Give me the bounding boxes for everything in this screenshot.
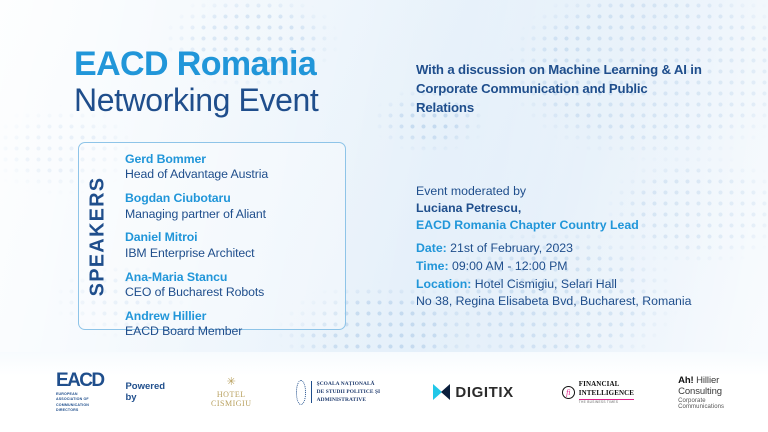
- hotel-crest-icon: ✳: [211, 377, 251, 388]
- powered-by-label: Powered by: [125, 381, 165, 403]
- sponsor-logo-bar: EACD EUROPEAN ASSOCIATION OF COMMUNICATI…: [0, 352, 768, 432]
- speaker-role: Managing partner of Aliant: [125, 207, 350, 222]
- speaker-role: EACD Board Member: [125, 324, 350, 339]
- financial-intelligence-line2: INTELLIGENCE: [579, 389, 634, 398]
- moderator-block: Event moderated by Luciana Petrescu, EAC…: [416, 183, 716, 234]
- list-item: Bogdan Ciubotaru Managing partner of Ali…: [125, 191, 350, 222]
- speakers-label-text: SPEAKERS: [87, 176, 110, 296]
- speaker-name: Daniel Mitroi: [125, 230, 350, 245]
- event-location-label: Location:: [416, 277, 471, 291]
- speaker-name: Bogdan Ciubotaru: [125, 191, 350, 206]
- hillier-name-row: Ah! Hillier Consulting: [678, 375, 724, 397]
- eacd-tagline: EUROPEAN ASSOCIATION OF COMMUNICATION DI…: [56, 392, 103, 414]
- digitix-mark-icon: [433, 384, 450, 401]
- speaker-list: Gerd Bommer Head of Advantage Austria Bo…: [125, 152, 350, 340]
- moderator-role: EACD Romania Chapter Country Lead: [416, 217, 716, 234]
- snspa-divider: [311, 381, 312, 403]
- list-item: Andrew Hillier EACD Board Member: [125, 309, 350, 340]
- event-tagline: With a discussion on Machine Learning & …: [416, 60, 706, 117]
- hotel-name: HOTEL CISMIGIU: [211, 390, 251, 408]
- financial-intelligence-badge-icon: fi: [562, 386, 575, 399]
- moderator-intro: Event moderated by: [416, 183, 716, 200]
- list-item: Daniel Mitroi IBM Enterprise Architect: [125, 230, 350, 261]
- financial-intelligence-tagline: THE BUSINESS TIMES: [579, 399, 634, 405]
- event-address: No 38, Regina Elisabeta Bvd, Bucharest, …: [416, 293, 736, 311]
- event-location-row: Location: Hotel Cismigiu, Selari Hall: [416, 276, 736, 294]
- eacd-logo: EACD EUROPEAN ASSOCIATION OF COMMUNICATI…: [56, 371, 103, 414]
- snspa-logo: ŞCOALA NAȚIONALĂ DE STUDII POLITICE ŞI A…: [296, 380, 382, 405]
- event-time-row: Time: 09:00 AM - 12:00 PM: [416, 258, 736, 276]
- speaker-role: CEO of Bucharest Robots: [125, 285, 350, 300]
- event-details-block: Date: 21st of February, 2023 Time: 09:00…: [416, 240, 736, 311]
- list-item: Ana-Maria Stancu CEO of Bucharest Robots: [125, 270, 350, 301]
- event-date-row: Date: 21st of February, 2023: [416, 240, 736, 258]
- speakers-section-label: SPEAKERS: [84, 152, 112, 320]
- moderator-name: Luciana Petrescu,: [416, 200, 716, 217]
- speaker-name: Ana-Maria Stancu: [125, 270, 350, 285]
- digitix-logo: DIGITIX: [433, 384, 513, 401]
- snspa-name: ŞCOALA NAȚIONALĂ DE STUDII POLITICE ŞI A…: [317, 380, 382, 404]
- speaker-role: IBM Enterprise Architect: [125, 246, 350, 261]
- eacd-wordmark: EACD: [56, 371, 103, 390]
- eu-stars-ring-icon: [296, 380, 307, 405]
- digitix-wordmark: DIGITIX: [455, 384, 513, 401]
- financial-intelligence-logo: fi FINANCIAL INTELLIGENCE THE BUSINESS T…: [562, 380, 634, 404]
- title-line-secondary: Networking Event: [74, 83, 318, 119]
- page-title: EACD Romania Networking Event: [74, 47, 318, 119]
- event-location-value: Hotel Cismigiu, Selari Hall: [475, 277, 617, 291]
- event-poster: EACD Romania Networking Event With a dis…: [0, 0, 768, 432]
- list-item: Gerd Bommer Head of Advantage Austria: [125, 152, 350, 183]
- event-date-value: 21st of February, 2023: [450, 241, 573, 255]
- hotel-cismigiu-logo: ✳ HOTEL CISMIGIU: [211, 377, 251, 408]
- speaker-name: Gerd Bommer: [125, 152, 350, 167]
- hillier-consulting-logo: Ah! Hillier Consulting Corporate Communi…: [678, 375, 724, 410]
- financial-intelligence-line1: FINANCIAL: [579, 380, 634, 389]
- hillier-brand: Ah!: [678, 375, 694, 386]
- event-time-label: Time:: [416, 259, 449, 273]
- title-line-primary: EACD Romania: [74, 47, 318, 82]
- speaker-role: Head of Advantage Austria: [125, 167, 350, 182]
- speaker-name: Andrew Hillier: [125, 309, 350, 324]
- hillier-subtitle: Corporate Communications: [678, 398, 724, 410]
- event-date-label: Date:: [416, 241, 447, 255]
- event-time-value: 09:00 AM - 12:00 PM: [452, 259, 568, 273]
